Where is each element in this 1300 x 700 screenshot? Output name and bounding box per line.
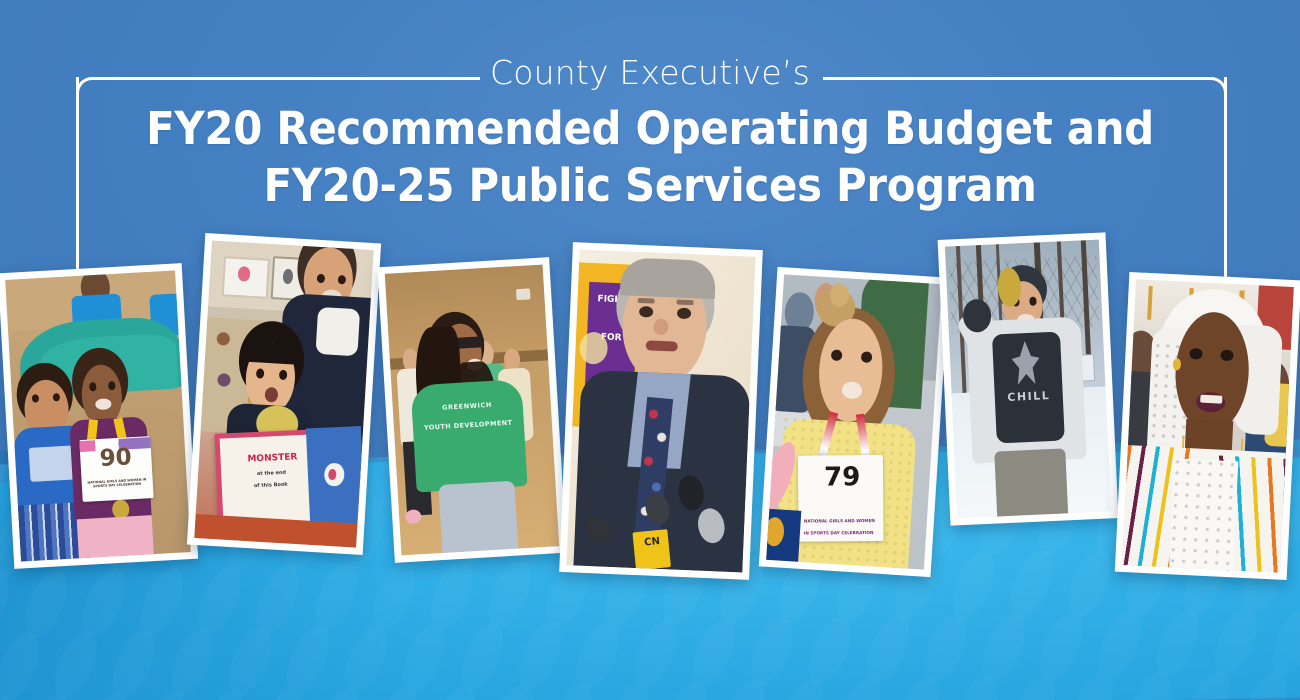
photo-youth-development-dance: GREENWICH YOUTH DEVELOPMENT <box>377 257 566 563</box>
photo-snowboarder-chill-image: CHILL <box>945 240 1111 519</box>
photo-5-bib-number: 79 <box>800 464 885 491</box>
photo-woman-headwrap <box>1115 272 1300 580</box>
photo-woman-headwrap-image <box>1122 279 1294 572</box>
photo-storytime-reading: MONSTER at the end of this Book <box>187 233 381 555</box>
photo-1-bib-number: 90 <box>79 444 152 472</box>
photo-5-bib-caption-2: IN SPORTS DAY CELEBRATION <box>796 530 881 536</box>
photo-girl-medal: 79 NATIONAL GIRLS AND WOMEN IN SPORTS DA… <box>759 267 949 577</box>
budget-cover-banner: County Executive’s FY20 Recommended Oper… <box>0 0 1300 700</box>
photo-storytime-reading-image: MONSTER at the end of this Book <box>194 240 373 547</box>
page-title-line-2: FY20-25 Public Services Program <box>129 157 1171 214</box>
photo-5-bib-caption-1: NATIONAL GIRLS AND WOMEN <box>797 518 882 524</box>
photo-youth-development-dance-image: GREENWICH YOUTH DEVELOPMENT <box>385 265 559 556</box>
photo-county-executive-podium: FIGHT FOR 15 <box>559 242 763 580</box>
photo-snowboarder-chill: CHILL <box>938 232 1119 525</box>
photo-children-parachute: 90 NATIONAL GIRLS AND WOMEN IN SPORTS DA… <box>0 263 198 569</box>
photo-county-executive-podium-image: FIGHT FOR 15 <box>566 249 755 572</box>
photo-children-parachute-image: 90 NATIONAL GIRLS AND WOMEN IN SPORTS DA… <box>5 270 190 561</box>
eyebrow-text: County Executive’s <box>0 56 1300 89</box>
page-title: FY20 Recommended Operating Budget and FY… <box>129 100 1171 214</box>
page-title-line-1: FY20 Recommended Operating Budget and <box>129 100 1171 157</box>
photo-girl-medal-image: 79 NATIONAL GIRLS AND WOMEN IN SPORTS DA… <box>766 274 942 569</box>
